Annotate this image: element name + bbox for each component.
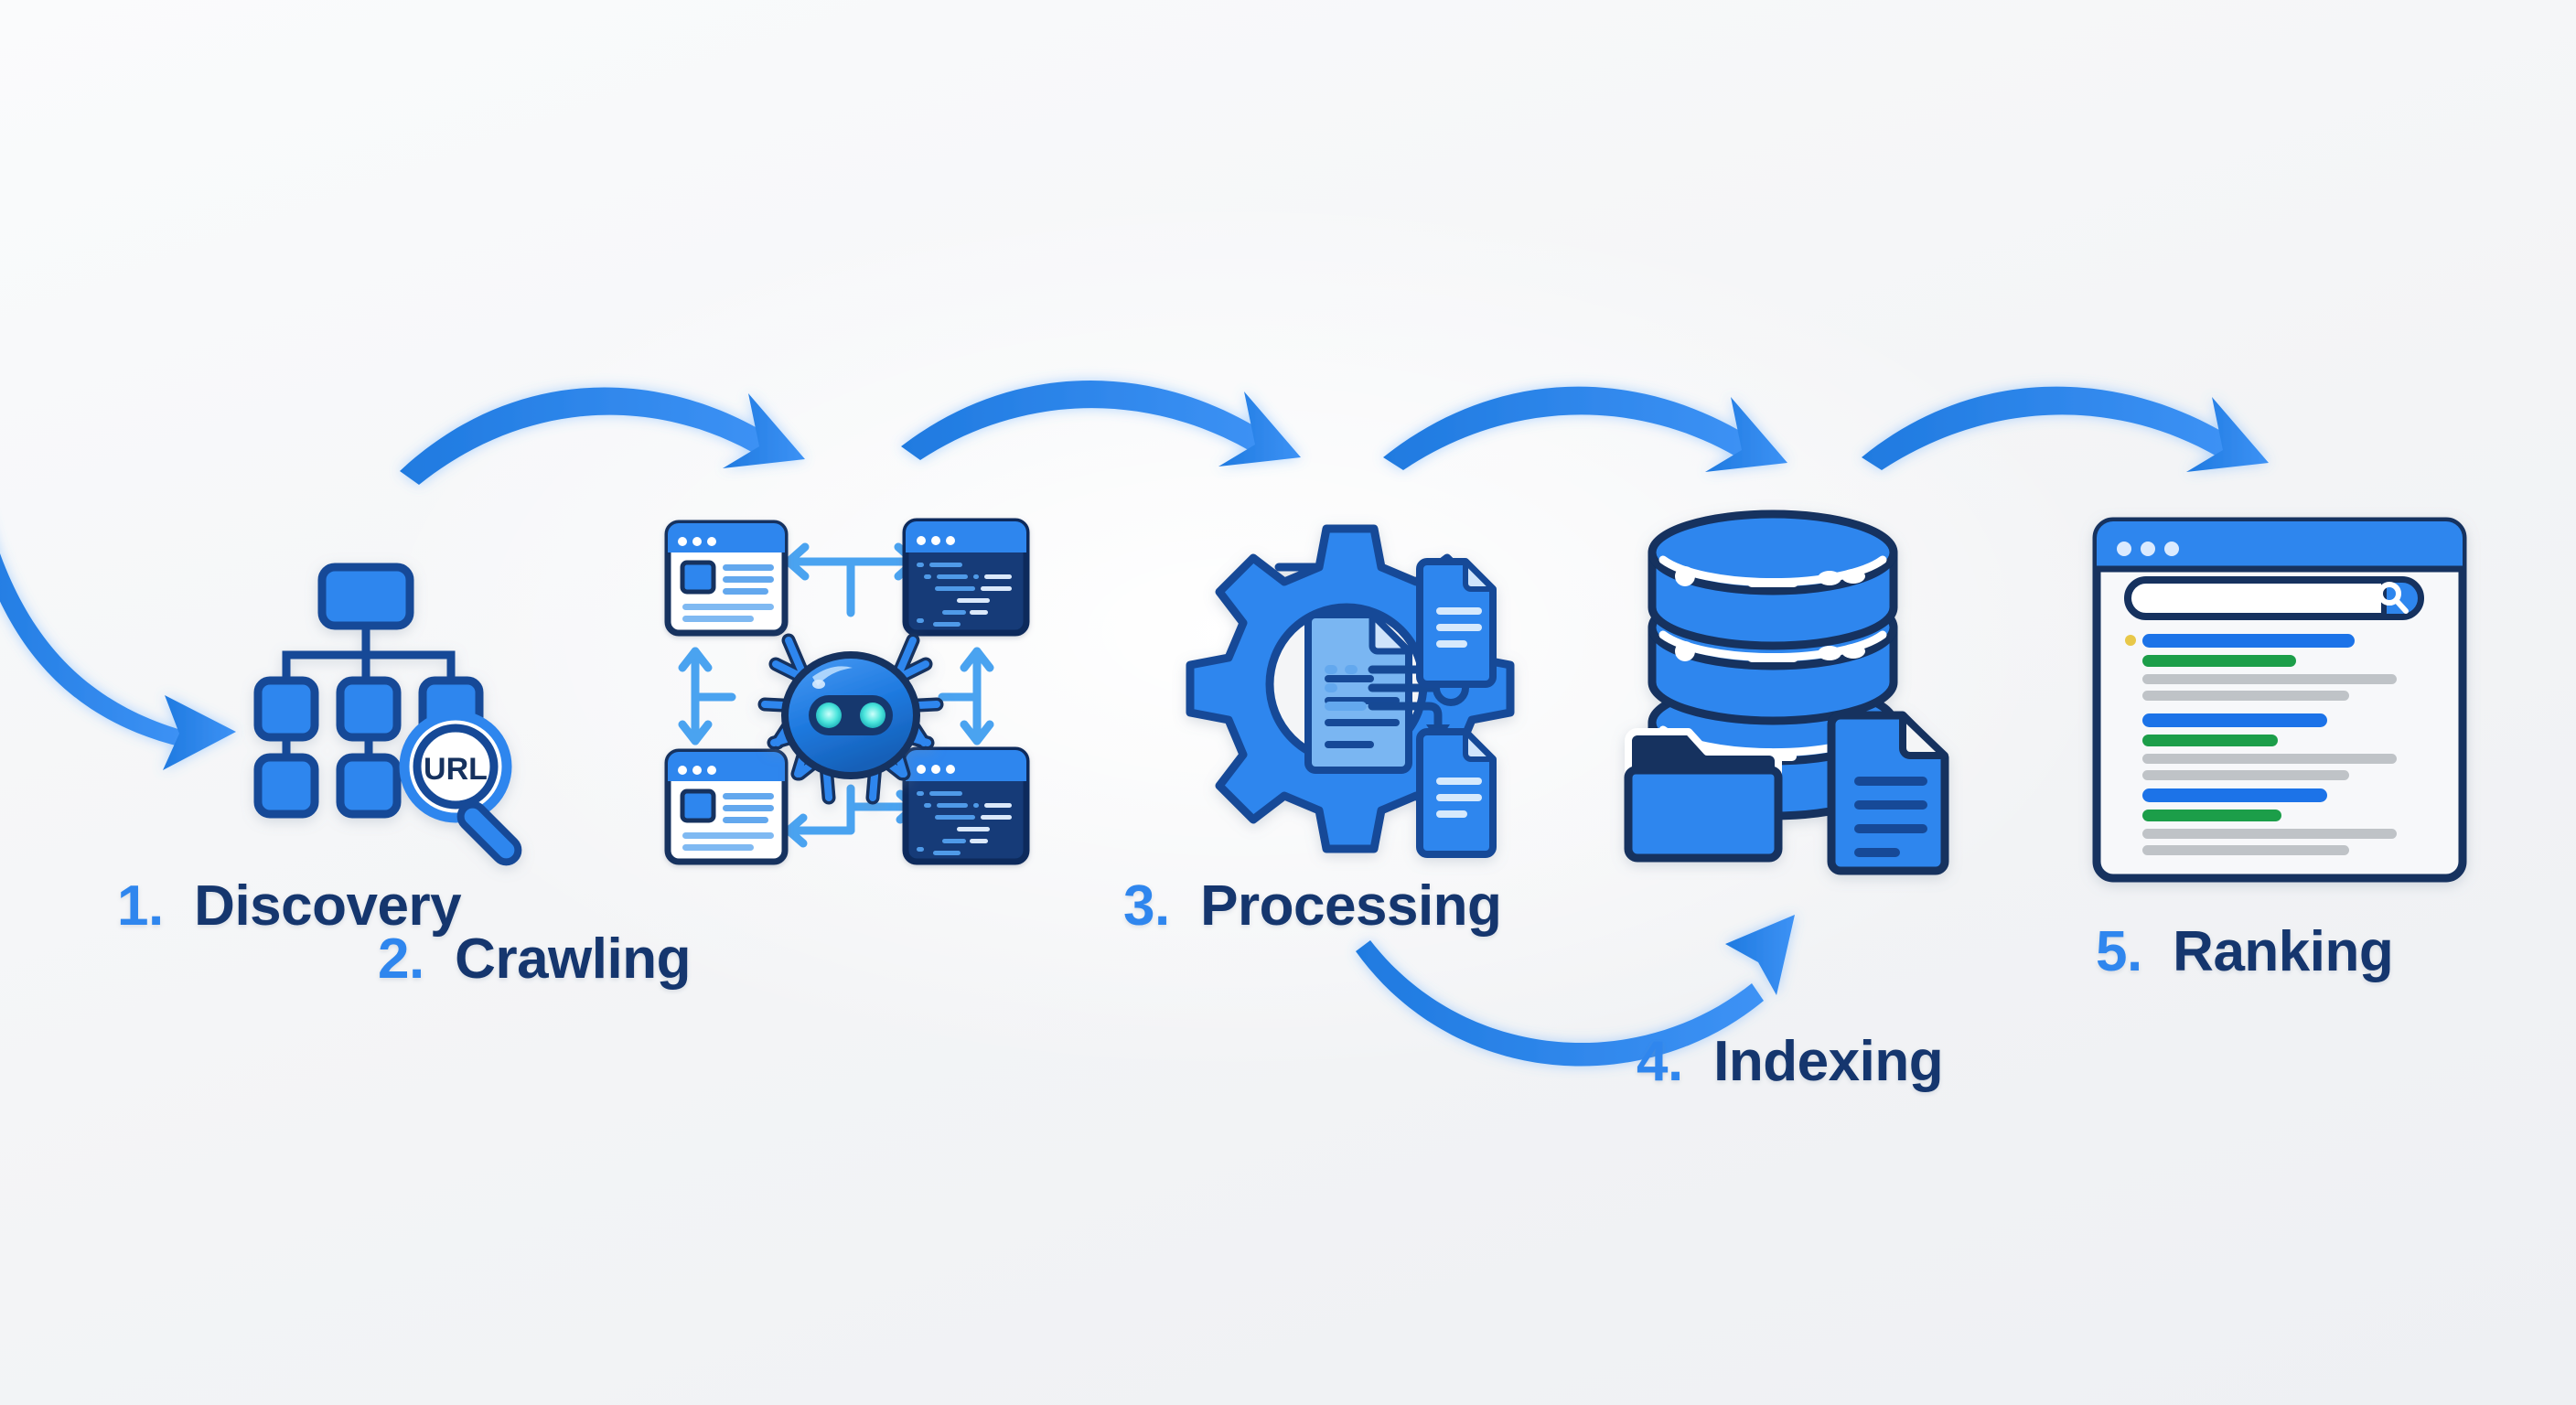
step-label-crawling: 2. Crawling	[378, 927, 691, 992]
step-name-4: Indexing	[1713, 1030, 1943, 1093]
step-number-3: 3.	[1123, 874, 1185, 938]
seo-pipeline-diagram: URL	[0, 0, 2576, 1405]
step-label-indexing: 4. Indexing	[1637, 1029, 1943, 1094]
icon-ranking	[0, 0, 2576, 1405]
step-name-3: Processing	[1200, 874, 1501, 938]
step-number-5: 5.	[2096, 920, 2157, 983]
step-name-5: Ranking	[2173, 920, 2393, 983]
step-label-ranking: 5. Ranking	[2096, 919, 2393, 984]
step-number-4: 4.	[1637, 1030, 1698, 1093]
featured-star-icon	[2125, 635, 2136, 646]
step-name-2: Crawling	[455, 928, 691, 991]
step-label-processing: 3. Processing	[1123, 874, 1501, 938]
step-number-1: 1.	[117, 874, 178, 938]
search-bar[interactable]	[2128, 580, 2420, 617]
step-number-2: 2.	[378, 928, 439, 991]
search-results-window-icon	[2097, 521, 2463, 878]
